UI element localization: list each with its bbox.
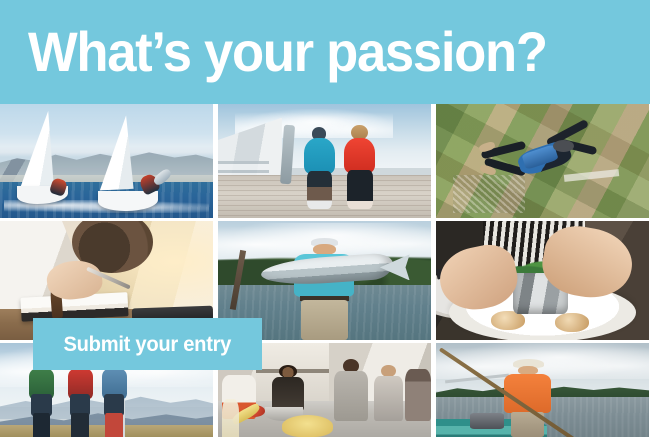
angler-trousers (301, 300, 347, 340)
submit-entry-button[interactable]: Submit your entry (33, 318, 262, 370)
kitchen-guest-2 (373, 365, 403, 421)
kitchen-guest-1 (333, 359, 369, 421)
kitchen-food-platter (282, 415, 333, 437)
fishing-angler (290, 238, 358, 340)
guest-1-body (334, 371, 367, 421)
gallery-tile-sailing[interactable] (0, 104, 213, 218)
runner-male-legs (307, 171, 332, 209)
runner-male-jacket (304, 138, 335, 174)
passion-photo-grid (0, 104, 650, 437)
hiking-hiker-2 (64, 369, 96, 437)
kitchen-server (269, 365, 307, 411)
server-body (272, 377, 304, 411)
kitchen-bottle (222, 399, 239, 437)
skydiving-diver (479, 125, 611, 196)
hiker-2-legs (71, 413, 89, 437)
gallery-tile-chef[interactable] (436, 221, 649, 340)
page-title: What’s your passion? (28, 16, 547, 88)
gallery-tile-running[interactable] (218, 104, 431, 218)
guest-2-body (374, 376, 403, 421)
running-runner-female (342, 125, 378, 209)
runner-female-jacket (344, 138, 374, 173)
submit-entry-label: Submit your entry (64, 334, 232, 355)
chef-scallop-right (555, 313, 589, 332)
gallery-tile-skydiving[interactable] (436, 104, 649, 218)
hiker-3-legs (105, 413, 123, 437)
hiking-hiker-1 (26, 369, 58, 437)
hiking-hiker-3 (98, 369, 130, 437)
header-banner: What’s your passion? (0, 0, 650, 104)
server-head (279, 365, 297, 378)
gallery-tile-boating[interactable] (436, 343, 649, 437)
diver-helmet (553, 140, 574, 152)
kitchen-guest-3 (405, 369, 431, 421)
promo-page: What’s your passion? (0, 0, 650, 437)
runner-female-legs (347, 170, 372, 209)
hiker-1-legs (33, 413, 51, 437)
running-runner-male (301, 127, 337, 209)
boating-gear (470, 413, 504, 429)
